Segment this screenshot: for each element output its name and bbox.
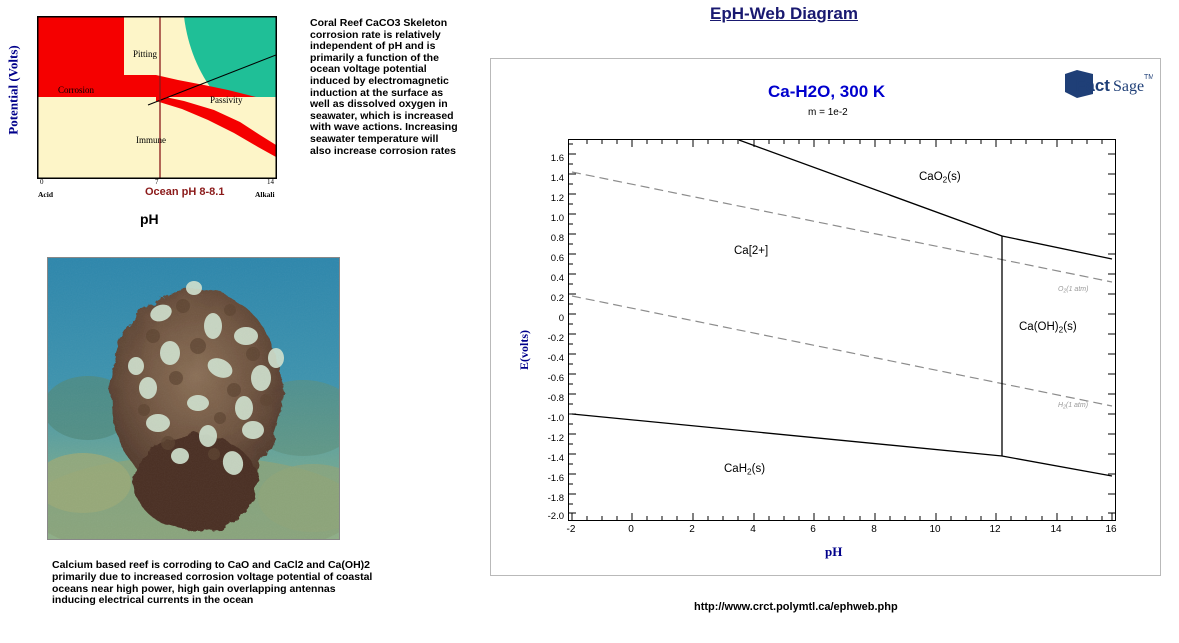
- phase-label-ca2plus: Ca[2+]: [734, 245, 768, 257]
- xtick-16: 16: [1099, 524, 1123, 535]
- ocean-ph-annotation: Ocean pH 8-8.1: [145, 186, 224, 198]
- chart-title: Ca-H2O, 300 K: [768, 82, 885, 102]
- factsage-sage-text: Sage: [1113, 78, 1144, 95]
- ytick-0.8: 0.8: [551, 234, 564, 244]
- gas-label-o2: O2(1 atm)O2(1 atm): [1058, 286, 1088, 294]
- xtick-12: 12: [983, 524, 1007, 535]
- pourbaix-y-axis-label-text: Potential (Volts): [6, 45, 22, 134]
- gas-label-h2: H2(1 atm)H2(1 atm): [1058, 402, 1088, 410]
- xtick--2: -2: [559, 524, 583, 535]
- boundary-cao2-ca2plus: [739, 140, 1002, 236]
- alkali-axis-label: Alkali: [255, 190, 275, 199]
- phase-label-cao2: CaO2(s)CaO2(s): [919, 171, 961, 184]
- phase-label-cah2: CaH2(s)CaH2(s): [724, 463, 765, 476]
- pourbaix-xtick-14: 14: [267, 178, 274, 186]
- pourbaix-plot-area: Corrosion Pitting Passivity Immune: [37, 16, 277, 179]
- source-url: http://www.crct.polymtl.ca/ephweb.php: [694, 601, 898, 613]
- pourbaix-diagram: Potential (Volts): [0, 0, 300, 250]
- acid-axis-label: Acid: [38, 190, 53, 199]
- ytick--0.6: -0.6: [548, 374, 564, 384]
- ytick--0.8: -0.8: [548, 394, 564, 404]
- water-stability-lines: [572, 172, 1112, 406]
- pourbaix-xtick-7: 7: [155, 178, 159, 186]
- xtick-0: 0: [619, 524, 643, 535]
- coral-reef-annotation: Coral Reef CaCO3 Skeleton corrosion rate…: [310, 18, 460, 230]
- factsage-logo: Fact Fact Sage TM: [1063, 68, 1153, 100]
- ytick-0.6: 0.6: [551, 254, 564, 264]
- factsage-fact-text: Fact: [1075, 76, 1110, 95]
- chart-x-tick-labels: -2 0 2 4 6 8 10 12 14 16: [568, 524, 1116, 538]
- ytick--1.0: -1.0: [548, 414, 564, 424]
- region-label-passivity: Passivity: [210, 95, 243, 105]
- boundary-cah2-caoh2: [1002, 456, 1112, 476]
- eph-chart-plot-area: CaO2(s)CaO2(s) Ca[2+] Ca(OH)2(s)Ca(OH)2(…: [568, 139, 1116, 521]
- ytick-1.2: 1.2: [551, 194, 564, 204]
- coral-reef-photo: [47, 257, 340, 540]
- phase-boundary-lines: [572, 140, 1112, 476]
- ytick-0: 0: [559, 314, 564, 324]
- boundary-cao2-caoh2: [1002, 236, 1112, 259]
- xtick-6: 6: [801, 524, 825, 535]
- chart-x-axis-label: pH: [825, 544, 842, 560]
- chart-y-tick-labels: 1.6 1.4 1.2 1.0 0.8 0.6 0.4 0.2 0 -0.2 -…: [520, 139, 564, 521]
- region-label-immune: Immune: [136, 135, 166, 145]
- pourbaix-y-axis-label: Potential (Volts): [2, 10, 26, 170]
- ytick-0.4: 0.4: [551, 274, 564, 284]
- phase-label-caoh2: Ca(OH)2(s)Ca(OH)2(s): [1019, 321, 1077, 334]
- region-label-pitting: Pitting: [133, 49, 157, 59]
- xtick-10: 10: [923, 524, 947, 535]
- h2-stability-line: [572, 296, 1112, 406]
- xtick-4: 4: [741, 524, 765, 535]
- ytick--1.2: -1.2: [548, 434, 564, 444]
- region-label-corrosion: Corrosion: [58, 85, 94, 95]
- boundary-cah2-ca2plus: [572, 414, 1002, 456]
- ytick-1.6: 1.6: [551, 154, 564, 164]
- ytick-1.0: 1.0: [551, 214, 564, 224]
- region-corrosion-upper: [38, 17, 124, 75]
- ytick--1.6: -1.6: [548, 474, 564, 484]
- coral-photo-caption: Calcium based reef is corroding to CaO a…: [52, 560, 382, 607]
- ytick--0.2: -0.2: [548, 334, 564, 344]
- xtick-14: 14: [1044, 524, 1068, 535]
- ytick-0.2: 0.2: [551, 294, 564, 304]
- xtick-2: 2: [680, 524, 704, 535]
- chart-subtitle: m = 1e-2: [808, 107, 848, 118]
- factsage-tm-text: TM: [1144, 74, 1153, 81]
- pourbaix-xtick-0: 0: [40, 178, 44, 186]
- o2-stability-line: [572, 172, 1112, 282]
- ytick--1.4: -1.4: [548, 454, 564, 464]
- page-title: EpH-Web Diagram: [710, 4, 858, 24]
- ytick--0.4: -0.4: [548, 354, 564, 364]
- ytick--1.8: -1.8: [548, 494, 564, 504]
- ytick--2.0: -2.0: [548, 512, 564, 522]
- xtick-8: 8: [862, 524, 886, 535]
- pourbaix-x-axis-label: pH: [140, 211, 159, 227]
- ytick-1.4: 1.4: [551, 174, 564, 184]
